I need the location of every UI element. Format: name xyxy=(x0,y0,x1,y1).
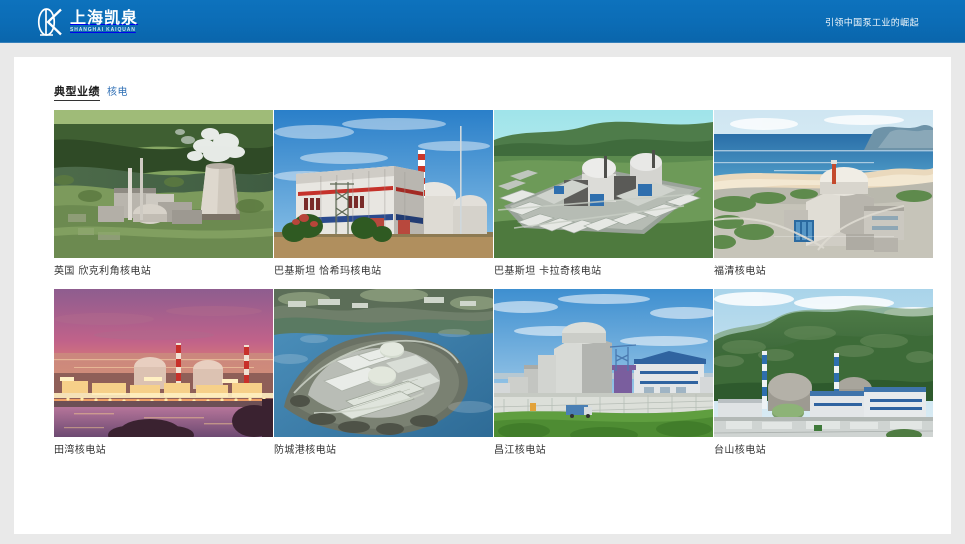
changjiang-plant-photo[interactable] xyxy=(494,289,713,437)
tianwan-plant-dusk-photo[interactable] xyxy=(54,289,273,437)
site-logo[interactable]: 上海凯泉 SHANGHAI KAIQUAN xyxy=(36,7,138,37)
header-divider xyxy=(0,42,965,43)
chashma-plant-photo[interactable] xyxy=(274,110,493,258)
gallery-item[interactable]: 巴基斯坦 恰希玛核电站 xyxy=(274,110,493,278)
section-header: 典型业绩 核电 xyxy=(14,57,951,101)
taishan-plant-photo[interactable] xyxy=(714,289,933,437)
hinkley-point-aerial-photo[interactable] xyxy=(54,110,273,258)
gallery-item[interactable]: 防城港核电站 xyxy=(274,289,493,457)
section-title: 典型业绩 xyxy=(54,83,100,101)
logo-chinese-name: 上海凯泉 xyxy=(70,9,138,26)
gallery-item-caption: 巴基斯坦 卡拉奇核电站 xyxy=(494,265,713,278)
gallery-item[interactable]: 英国 欣克利角核电站 xyxy=(54,110,273,278)
section-subtitle-nuclear[interactable]: 核电 xyxy=(107,83,128,98)
gallery-item-caption: 昌江核电站 xyxy=(494,444,713,457)
kaiquan-k-logo-icon xyxy=(36,7,64,37)
fangchenggang-plant-aerial-photo[interactable] xyxy=(274,289,493,437)
karachi-plant-rendering[interactable] xyxy=(494,110,713,258)
logo-english-name: SHANGHAI KAIQUAN xyxy=(70,27,138,34)
gallery-item[interactable]: 台山核电站 xyxy=(714,289,933,457)
content-card: 典型业绩 核电 xyxy=(14,57,951,534)
gallery-item-caption: 田湾核电站 xyxy=(54,444,273,457)
gallery-item-caption: 台山核电站 xyxy=(714,444,933,457)
gallery-item-caption: 巴基斯坦 恰希玛核电站 xyxy=(274,265,493,278)
gallery-item[interactable]: 昌江核电站 xyxy=(494,289,713,457)
gallery-item[interactable]: 福清核电站 xyxy=(714,110,933,278)
gallery-item-caption: 防城港核电站 xyxy=(274,444,493,457)
gallery-item[interactable]: 田湾核电站 xyxy=(54,289,273,457)
page-body: 典型业绩 核电 xyxy=(0,43,965,544)
performance-gallery-grid: 英国 欣克利角核电站 xyxy=(54,110,936,457)
logo-text-block: 上海凯泉 SHANGHAI KAIQUAN xyxy=(70,9,138,34)
gallery-item-caption: 福清核电站 xyxy=(714,265,933,278)
gallery-item[interactable]: 巴基斯坦 卡拉奇核电站 xyxy=(494,110,713,278)
header-slogan: 引领中国泵工业的崛起 xyxy=(825,15,919,28)
fuqing-plant-rendering[interactable] xyxy=(714,110,933,258)
site-header: 上海凯泉 SHANGHAI KAIQUAN 引领中国泵工业的崛起 xyxy=(0,0,965,43)
gallery-item-caption: 英国 欣克利角核电站 xyxy=(54,265,273,278)
